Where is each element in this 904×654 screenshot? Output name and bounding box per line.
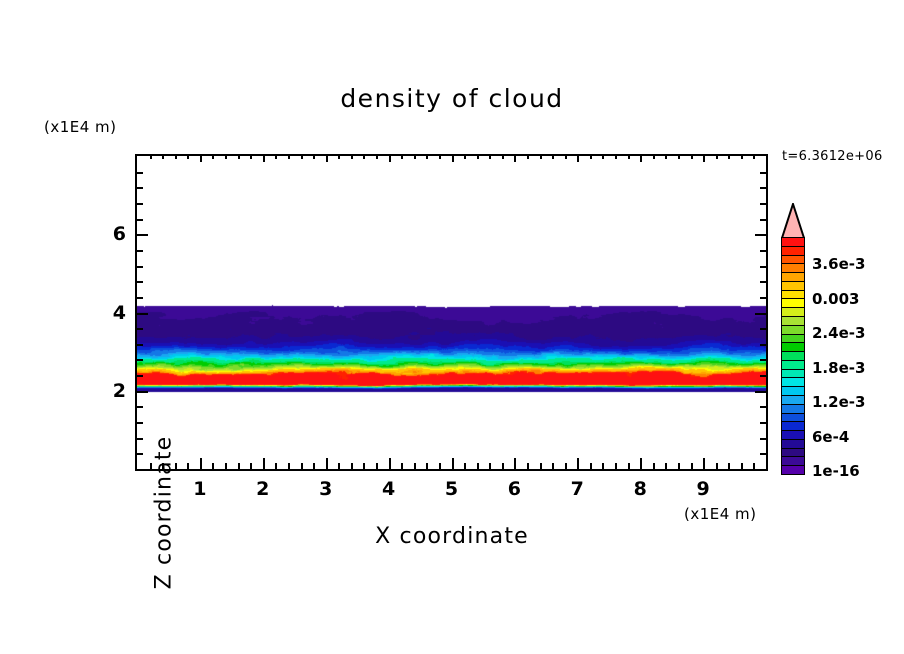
tick-mark [351, 154, 353, 159]
timestamp-label: t=6.3612e+06 [782, 149, 883, 164]
tick-mark [760, 281, 766, 283]
tick-mark [760, 250, 766, 252]
tick-mark [137, 344, 143, 346]
tick-mark [137, 422, 143, 424]
tick-mark [590, 463, 592, 469]
tick-mark [200, 458, 202, 469]
tick-mark [338, 154, 340, 159]
tick-mark [389, 458, 391, 469]
x-tick-label: 2 [256, 478, 269, 500]
tick-mark [187, 463, 189, 469]
tick-mark [351, 463, 353, 469]
x-tick-label: 6 [508, 478, 521, 500]
x-tick-label: 3 [319, 478, 332, 500]
tick-mark [137, 406, 143, 408]
tick-mark [439, 463, 441, 469]
tick-mark [760, 219, 766, 221]
tick-mark [760, 453, 766, 455]
tick-mark [212, 463, 214, 469]
tick-mark [760, 172, 766, 174]
tick-mark [414, 463, 416, 469]
x-tick-label: 1 [193, 478, 206, 500]
tick-mark [301, 154, 303, 159]
tick-mark [363, 463, 365, 469]
tick-mark [275, 154, 277, 159]
page-title: density of cloud [0, 84, 904, 113]
tick-mark [137, 172, 143, 174]
tick-mark [728, 154, 730, 159]
tick-mark [760, 297, 766, 299]
tick-mark [653, 154, 655, 159]
tick-mark [565, 463, 567, 469]
colorbar-label: 1.8e-3 [812, 359, 865, 377]
tick-mark [602, 154, 604, 159]
tick-mark [489, 154, 491, 159]
x-tick-label: 9 [696, 478, 709, 500]
tick-mark [137, 187, 143, 189]
tick-mark [760, 344, 766, 346]
colorbar-label: 2.4e-3 [812, 324, 865, 342]
colorbar-label: 6e-4 [812, 428, 849, 446]
tick-mark [175, 154, 177, 159]
tick-mark [703, 458, 705, 469]
y-axis-unit-label: (x1E4 m) [44, 118, 117, 136]
tick-mark [552, 463, 554, 469]
tick-mark [150, 154, 152, 159]
tick-mark [376, 463, 378, 469]
tick-mark [187, 154, 189, 159]
tick-mark [760, 187, 766, 189]
tick-mark [753, 463, 755, 469]
tick-mark [225, 154, 227, 159]
tick-mark [326, 458, 328, 469]
tick-mark [753, 154, 755, 159]
tick-mark [640, 458, 642, 469]
tick-mark [502, 154, 504, 159]
tick-mark [137, 359, 143, 361]
tick-mark [137, 250, 143, 252]
tick-mark [439, 154, 441, 159]
tick-mark [137, 203, 143, 205]
tick-mark [137, 313, 148, 315]
tick-mark [137, 453, 143, 455]
y-axis-title: Z coordinate [152, 403, 177, 623]
figure-canvas: density of cloud (x1E4 m) t=6.3612e+06 1… [0, 0, 904, 654]
tick-mark [464, 154, 466, 159]
tick-mark [760, 375, 766, 377]
tick-mark [250, 463, 252, 469]
tick-mark [760, 406, 766, 408]
tick-mark [502, 463, 504, 469]
tick-mark [565, 154, 567, 159]
tick-mark [691, 463, 693, 469]
tick-mark [137, 328, 143, 330]
x-tick-label: 4 [382, 478, 395, 500]
colorbar-overflow-arrow-icon [781, 203, 805, 239]
tick-mark [238, 154, 240, 159]
density-field-canvas [137, 156, 766, 469]
colorbar-label: 0.003 [812, 290, 859, 308]
tick-mark [137, 297, 143, 299]
tick-mark [540, 463, 542, 469]
tick-mark [527, 463, 529, 469]
x-axis-unit-label: (x1E4 m) [684, 505, 757, 523]
tick-mark [540, 154, 542, 159]
tick-mark [137, 281, 143, 283]
tick-mark [716, 463, 718, 469]
tick-mark [653, 463, 655, 469]
tick-mark [716, 154, 718, 159]
tick-mark [552, 154, 554, 159]
tick-mark [137, 375, 143, 377]
tick-mark [162, 154, 164, 159]
tick-mark [477, 154, 479, 159]
tick-mark [225, 463, 227, 469]
tick-mark [137, 391, 148, 393]
tick-mark [760, 359, 766, 361]
tick-mark [376, 154, 378, 159]
tick-mark [137, 438, 143, 440]
tick-mark [590, 154, 592, 159]
tick-mark [741, 154, 743, 159]
tick-mark [401, 463, 403, 469]
colorbar-label: 1.2e-3 [812, 393, 865, 411]
tick-mark [137, 234, 148, 236]
tick-mark [301, 463, 303, 469]
tick-mark [615, 154, 617, 159]
tick-mark [250, 154, 252, 159]
tick-mark [477, 463, 479, 469]
tick-mark [615, 463, 617, 469]
colorbar-label: 1e-16 [812, 462, 860, 480]
tick-mark [212, 154, 214, 159]
tick-mark [602, 463, 604, 469]
tick-mark [665, 463, 667, 469]
tick-mark [741, 463, 743, 469]
tick-mark [640, 154, 642, 162]
tick-mark [691, 154, 693, 159]
x-tick-label: 7 [571, 478, 584, 500]
colorbar-label: 3.6e-3 [812, 255, 865, 273]
tick-mark [755, 313, 766, 315]
tick-mark [760, 266, 766, 268]
tick-mark [489, 463, 491, 469]
tick-mark [760, 438, 766, 440]
tick-mark [678, 154, 680, 159]
tick-mark [755, 234, 766, 236]
x-tick-label: 8 [634, 478, 647, 500]
tick-mark [389, 154, 391, 162]
x-tick-label: 5 [445, 478, 458, 500]
tick-mark [137, 219, 143, 221]
tick-mark [326, 154, 328, 162]
tick-mark [628, 154, 630, 159]
tick-mark [527, 154, 529, 159]
tick-mark [755, 391, 766, 393]
tick-mark [313, 463, 315, 469]
tick-mark [452, 458, 454, 469]
tick-mark [263, 458, 265, 469]
tick-mark [426, 154, 428, 159]
tick-mark [426, 463, 428, 469]
x-axis-title: X coordinate [0, 524, 904, 549]
tick-mark [514, 458, 516, 469]
tick-mark [263, 154, 265, 162]
tick-mark [414, 154, 416, 159]
tick-mark [338, 463, 340, 469]
tick-mark [288, 154, 290, 159]
tick-mark [678, 463, 680, 469]
colorbar-band [781, 465, 805, 475]
tick-mark [401, 154, 403, 159]
tick-mark [577, 154, 579, 162]
tick-mark [577, 458, 579, 469]
colorbar [781, 237, 805, 474]
tick-mark [665, 154, 667, 159]
y-axis-title-wrap: Z coordinate [72, 200, 112, 420]
tick-mark [760, 422, 766, 424]
tick-mark [760, 328, 766, 330]
tick-mark [137, 266, 143, 268]
tick-mark [275, 463, 277, 469]
tick-mark [452, 154, 454, 162]
tick-mark [313, 154, 315, 159]
tick-mark [728, 463, 730, 469]
tick-mark [514, 154, 516, 162]
tick-mark [288, 463, 290, 469]
tick-mark [703, 154, 705, 162]
tick-mark [363, 154, 365, 159]
tick-mark [628, 463, 630, 469]
tick-mark [760, 203, 766, 205]
tick-mark [200, 154, 202, 162]
contour-plot-area [135, 154, 768, 471]
tick-mark [464, 463, 466, 469]
tick-mark [238, 463, 240, 469]
